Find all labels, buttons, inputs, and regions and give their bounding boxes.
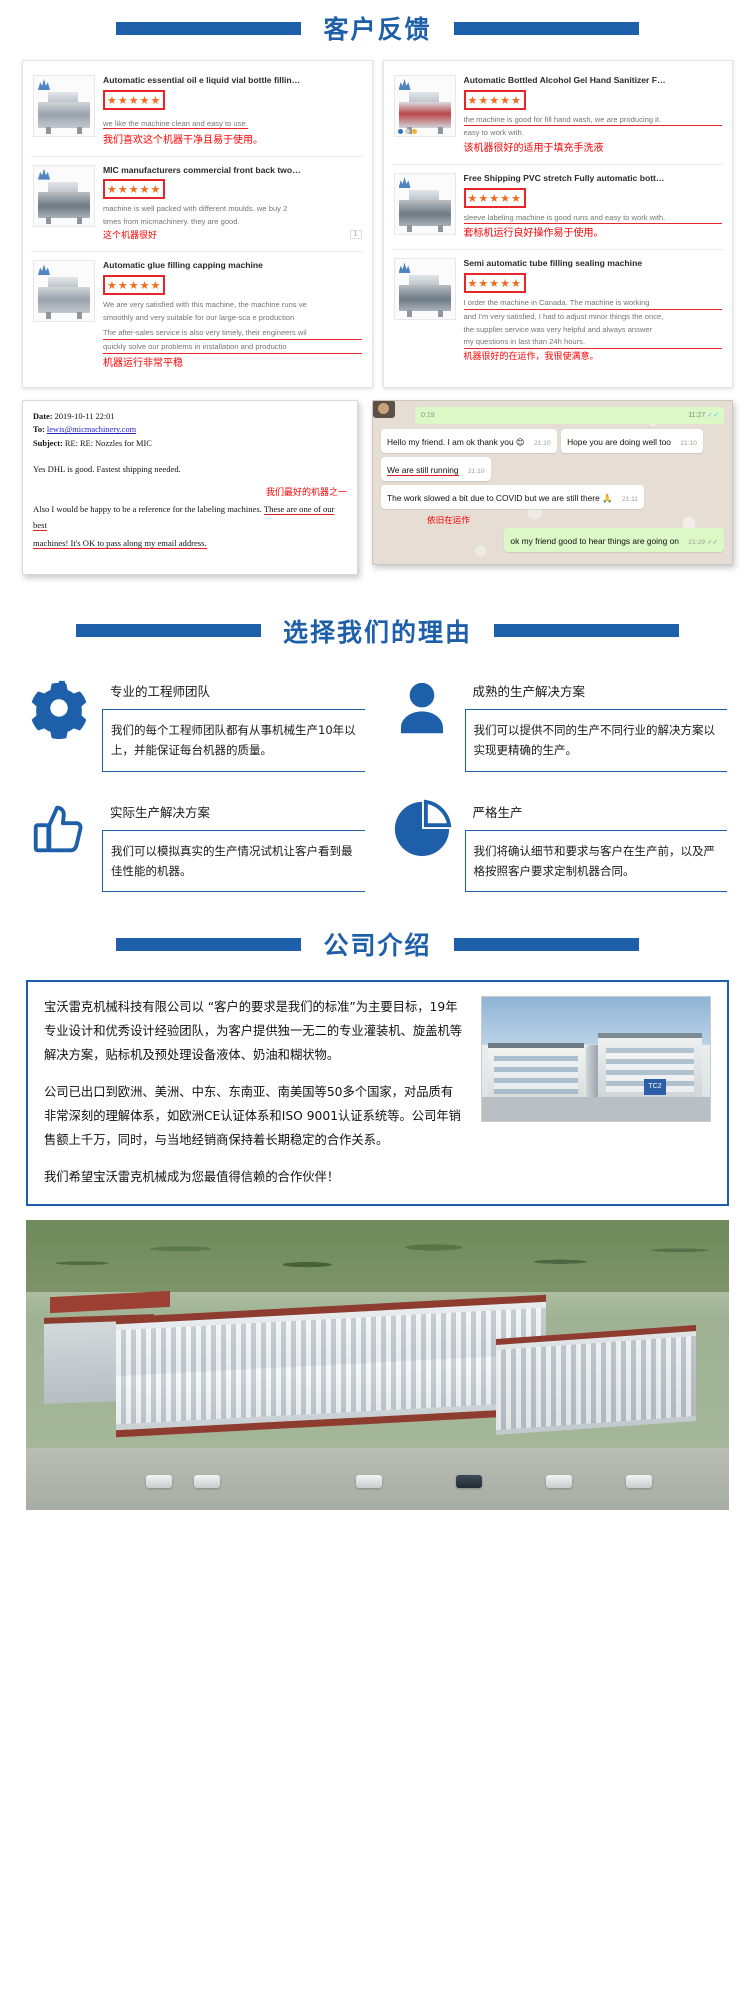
parked-car (146, 1475, 172, 1488)
review-line: quickly solve our problems in installati… (103, 341, 362, 354)
reason-item-production-solution: 成熟的生产解决方案 我们可以提供不同的生产不同行业的解决方案以实现更精确的生产。 (391, 673, 728, 772)
company-intro-text: 宝沃雷克机械科技有限公司以 “客户的要求是我们的标准”为主要目标，19年专业设计… (44, 996, 465, 1190)
red-roof-shape (50, 1291, 170, 1313)
factory-aerial-photo (26, 1220, 729, 1510)
reason-body: 我们将确认细节和要求与客户在生产前，以及严格按照客户要求定制机器合同。 (465, 831, 728, 893)
swatch-yellow[interactable] (412, 129, 417, 134)
company-paragraph-1: 宝沃雷克机械科技有限公司以 “客户的要求是我们的标准”为主要目标，19年专业设计… (44, 996, 465, 1068)
stars-glyphs: ★★★★★ (468, 278, 522, 290)
chat-text: ok my friend good to hear things are goi… (510, 536, 679, 546)
reviews-grid: Automatic essential oil e liquid vial bo… (0, 56, 755, 388)
mic-logo-icon (38, 264, 50, 275)
mic-logo-icon (399, 177, 411, 188)
outgoing-row: ok my friend good to hear things are goi… (381, 528, 724, 556)
reason-text: 成熟的生产解决方案 我们可以提供不同的生产不同行业的解决方案以实现更精确的生产。 (465, 673, 728, 772)
review-body: Automatic glue filling capping machine ★… (103, 260, 362, 371)
chat-bubble-incoming[interactable]: Hello my friend. I am ok thank you 😊 21:… (381, 429, 557, 453)
review-line: machine is well packed with different mo… (103, 203, 362, 215)
product-thumbnail (394, 75, 456, 137)
page-title-customer-feedback: 客户反馈 (323, 10, 431, 46)
swatch-gray[interactable] (405, 129, 410, 134)
review-card[interactable]: Automatic essential oil e liquid vial bo… (31, 67, 364, 157)
warehouse-roof-b (496, 1325, 696, 1435)
stars-glyphs: ★★★★★ (468, 193, 522, 205)
email-to-label: To: (33, 425, 45, 434)
read-receipt-icon: ✓✓ (707, 539, 718, 546)
proof-screenshots-row: Date: 2019-10-11 22:01 To: lewis@micmach… (0, 388, 755, 575)
review-line: the machine is good for fill hand wash, … (464, 114, 723, 127)
review-product-title[interactable]: Automatic glue filling capping machine (103, 260, 362, 272)
rating-stars: ★★★★★ (103, 275, 165, 295)
review-body: Automatic essential oil e liquid vial bo… (103, 75, 362, 148)
reviews-column-right: Automatic Bottled Alcohol Gel Hand Sanit… (383, 60, 734, 388)
review-product-title[interactable]: Automatic Bottled Alcohol Gel Hand Sanit… (464, 75, 723, 87)
color-swatch-dots[interactable] (398, 129, 417, 134)
email-screenshot: Date: 2019-10-11 22:01 To: lewis@micmach… (22, 400, 358, 575)
email-date-label: Date: (33, 412, 53, 421)
review-product-title[interactable]: Free Shipping PVC stretch Fully automati… (464, 173, 723, 185)
chat-text: Hope you are doing well too (567, 437, 671, 447)
review-line: smoothly and very suitable for our large… (103, 312, 362, 324)
review-line: sleeve labeling machine is good runs and… (464, 212, 723, 225)
email-body: Yes DHL is good. Fastest shipping needed… (33, 462, 347, 551)
chat-timestamp: 21:10 (680, 440, 697, 447)
email-date-row: Date: 2019-10-11 22:01 (33, 410, 347, 424)
reason-body: 我们可以模拟真实的生产情况试机让客户看到最佳性能的机器。 (102, 831, 365, 893)
review-text-en: We are very satisfied with this machine,… (103, 299, 362, 354)
review-line: and I'm very satisfied, I had to adjust … (464, 311, 723, 323)
parked-car (546, 1475, 572, 1488)
review-translation-cn: 该机器很好的适用于填充手洗液 (464, 141, 723, 156)
reason-heading: 成熟的生产解决方案 (465, 673, 728, 710)
product-thumbnail (394, 258, 456, 320)
page-title-reasons: 选择我们的理由 (283, 613, 472, 649)
machine-base-shape (399, 200, 451, 226)
whatsapp-screenshot: 0:19 11:27✓✓ Hello my friend. I am ok th… (372, 400, 733, 565)
chat-timestamp: 21:29✓✓ (688, 539, 718, 546)
warehouse-roof-a (116, 1295, 546, 1438)
rating-stars: ★★★★★ (464, 188, 526, 208)
heading-bar-right (494, 624, 679, 637)
review-page-number[interactable]: 1 (350, 230, 362, 239)
review-line: my questions in last than 24h hours. (464, 336, 723, 349)
review-line: the supplier service was very helpful an… (464, 324, 723, 336)
chat-text: We are still running (387, 465, 459, 476)
reason-body: 我们可以提供不同的生产不同行业的解决方案以实现更精确的生产。 (465, 710, 728, 772)
company-paragraph-3: 我们希望宝沃雷克机械成为您最值得信赖的合作伙伴！ (44, 1166, 465, 1190)
chat-timestamp: 21:10 (468, 468, 485, 475)
reason-heading: 实际生产解决方案 (102, 794, 365, 831)
chat-text: The work slowed a bit due to COVID but w… (387, 493, 612, 503)
review-body: MIC manufacturers commercial front back … (103, 165, 362, 244)
review-product-title[interactable]: MIC manufacturers commercial front back … (103, 165, 362, 177)
email-paragraph-3: machines! It's OK to pass along my email… (33, 536, 347, 551)
reason-item-engineer-team: 专业的工程师团队 我们的每个工程师团队都有从事机械生产10年以上，并能保证每台机… (28, 673, 365, 772)
chat-text: Hello my friend. I am ok thank you 😊 (387, 437, 525, 447)
review-line: We are very satisfied with this machine,… (103, 299, 362, 311)
email-to-row: To: lewis@micmachinery.com (33, 423, 347, 437)
mic-logo-icon (399, 262, 411, 273)
review-translation-cn: 机器很好的在运作，我很使满意。 (464, 351, 723, 365)
review-body: Automatic Bottled Alcohol Gel Hand Sanit… (464, 75, 723, 156)
reason-text: 实际生产解决方案 我们可以模拟真实的生产情况试机让客户看到最佳性能的机器。 (102, 794, 365, 893)
review-body: Free Shipping PVC stretch Fully automati… (464, 173, 723, 241)
email-subject-value: RE: RE: Nozzles for MIC (65, 439, 152, 448)
review-card[interactable]: Semi automatic tube filling sealing mach… (392, 250, 725, 372)
product-thumbnail (33, 75, 95, 137)
machine-base-shape (38, 192, 90, 218)
section-header-customer-feedback: 客户反馈 (0, 0, 755, 56)
email-annotation-cn: 我们最好的机器之一 (33, 486, 347, 502)
chat-bubble-incoming[interactable]: We are still running 21:10 (381, 457, 491, 481)
product-thumbnail (33, 260, 95, 322)
section-header-reasons: 选择我们的理由 (0, 603, 755, 659)
stars-glyphs: ★★★★★ (107, 184, 161, 196)
rating-stars: ★★★★★ (103, 179, 165, 199)
review-text-en: I order the machine in Canada. The machi… (464, 297, 723, 349)
pie-chart-icon (391, 798, 453, 860)
machine-base-shape (38, 287, 90, 313)
thumbs-up-icon (28, 798, 90, 860)
email-text-highlighted: machines! It's OK to pass along my email… (33, 538, 207, 549)
mic-logo-icon (38, 169, 50, 180)
email-to-link[interactable]: lewis@micmachinery.com (47, 425, 136, 434)
parked-car (194, 1475, 220, 1488)
chat-time-value: 21:29 (688, 539, 705, 546)
review-text-en: the machine is good for fill hand wash, … (464, 114, 723, 140)
email-text-plain: Also I would be happy to be a reference … (33, 504, 264, 514)
product-detail-page: 客户反馈 Automatic essential oil e liquid vi… (0, 0, 755, 1532)
chat-timestamp: 21:10 (534, 440, 551, 447)
voice-duration: 0:19 (421, 412, 435, 419)
reason-heading: 严格生产 (465, 794, 728, 831)
reason-heading: 专业的工程师团队 (102, 673, 365, 710)
ground-shape (482, 1097, 710, 1121)
heading-bar-right (454, 22, 639, 35)
review-line: we like the machine clean and easy to us… (103, 119, 248, 129)
review-translation-cn: 套标机运行良好操作易于使用。 (464, 226, 723, 241)
chat-bubble-incoming[interactable]: The work slowed a bit due to COVID but w… (381, 485, 644, 509)
tree-line-shape (26, 1220, 729, 1292)
reason-text: 严格生产 我们将确认细节和要求与客户在生产前，以及严格按照客户要求定制机器合同。 (465, 794, 728, 893)
reasons-grid: 专业的工程师团队 我们的每个工程师团队都有从事机械生产10年以上，并能保证每台机… (0, 659, 755, 899)
mic-logo-icon (399, 79, 411, 90)
review-line: I order the machine in Canada. The machi… (464, 297, 723, 310)
chat-bubble-incoming[interactable]: Hope you are doing well too 21:10 (561, 429, 703, 453)
person-icon (391, 677, 453, 739)
heading-bar-left (116, 938, 301, 951)
review-text-en: machine is well packed with different mo… (103, 203, 362, 228)
reason-item-strict-production: 严格生产 我们将确认细节和要求与客户在生产前，以及严格按照客户要求定制机器合同。 (391, 794, 728, 893)
product-thumbnail (394, 173, 456, 235)
page-title-company: 公司介绍 (323, 926, 431, 962)
read-receipt-icon: ✓✓ (707, 412, 719, 419)
email-paragraph-2: Also I would be happy to be a reference … (33, 502, 347, 532)
review-translation-cn: 机器运行非常平稳 (103, 356, 362, 371)
reviews-column-left: Automatic essential oil e liquid vial bo… (22, 60, 373, 388)
building-sign: TC2 (644, 1079, 666, 1095)
machine-base-shape (38, 102, 90, 128)
voice-timestamp: 11:27✓✓ (688, 411, 719, 419)
review-line: easy to work with. (464, 127, 723, 139)
contact-avatar (373, 400, 395, 418)
parked-car (456, 1475, 482, 1488)
voice-time-value: 11:27 (688, 412, 705, 419)
voice-message-bubble[interactable]: 0:19 11:27✓✓ (415, 407, 724, 424)
rating-stars: ★★★★★ (103, 90, 165, 110)
machine-base-shape (399, 102, 451, 128)
review-body: Semi automatic tube filling sealing mach… (464, 258, 723, 364)
building-left-shape (488, 1043, 584, 1099)
review-product-title[interactable]: Automatic essential oil e liquid vial bo… (103, 75, 362, 87)
review-text-en: sleeve labeling machine is good runs and… (464, 212, 723, 225)
review-translation-cn: 我们喜欢这个机器干净且易于使用。 (103, 133, 362, 148)
company-paragraph-2: 公司已出口到欧洲、美洲、中东、东南亚、南美国等50多个国家，对品质有非常深刻的理… (44, 1081, 465, 1153)
email-date-value: 2019-10-11 22:01 (55, 412, 115, 421)
heading-bar-left (76, 624, 261, 637)
reason-item-real-production: 实际生产解决方案 我们可以模拟真实的生产情况试机让客户看到最佳性能的机器。 (28, 794, 365, 893)
review-line: The after-sales service is also very tim… (103, 327, 362, 340)
machine-base-shape (399, 285, 451, 311)
stars-glyphs: ★★★★★ (468, 95, 522, 107)
review-card[interactable]: MIC manufacturers commercial front back … (31, 157, 364, 253)
review-card[interactable]: Automatic Bottled Alcohol Gel Hand Sanit… (392, 67, 725, 165)
review-card[interactable]: Automatic glue filling capping machine ★… (31, 252, 364, 379)
heading-bar-left (116, 22, 301, 35)
email-subject-row: Subject: RE: RE: Nozzles for MIC (33, 437, 347, 451)
parked-car (356, 1475, 382, 1488)
email-header: Date: 2019-10-11 22:01 To: lewis@micmach… (33, 410, 347, 451)
review-translation-cn: 这个机器很好 (103, 230, 362, 244)
gear-icon (28, 677, 90, 739)
chat-timestamp: 21:11 (622, 496, 638, 503)
reason-body: 我们的每个工程师团队都有从事机械生产10年以上，并能保证每台机器的质量。 (102, 710, 365, 772)
chat-annotation-cn: 依旧在运作 (427, 514, 724, 526)
review-line: times from micmachinery. they are good. (103, 216, 362, 228)
email-subject-label: Subject: (33, 439, 63, 448)
product-thumbnail (33, 165, 95, 227)
company-intro-section: 宝沃雷克机械科技有限公司以 “客户的要求是我们的标准”为主要目标，19年专业设计… (0, 972, 755, 1206)
review-card[interactable]: Free Shipping PVC stretch Fully automati… (392, 165, 725, 250)
swatch-blue[interactable] (398, 129, 403, 134)
mic-logo-icon (38, 79, 50, 90)
stars-glyphs: ★★★★★ (107, 95, 161, 107)
stars-glyphs: ★★★★★ (107, 280, 161, 292)
review-product-title[interactable]: Semi automatic tube filling sealing mach… (464, 258, 723, 270)
review-text-en: we like the machine clean and easy to us… (103, 113, 362, 131)
section-header-company: 公司介绍 (0, 916, 755, 972)
email-paragraph-1: Yes DHL is good. Fastest shipping needed… (33, 462, 347, 477)
reason-text: 专业的工程师团队 我们的每个工程师团队都有从事机械生产10年以上，并能保证每台机… (102, 673, 365, 772)
parked-car (626, 1475, 652, 1488)
company-intro-box: 宝沃雷克机械科技有限公司以 “客户的要求是我们的标准”为主要目标，19年专业设计… (26, 980, 729, 1206)
heading-bar-right (454, 938, 639, 951)
rating-stars: ★★★★★ (464, 273, 526, 293)
factory-building-photo: TC2 (481, 996, 711, 1122)
chat-bubble-outgoing[interactable]: ok my friend good to hear things are goi… (504, 528, 724, 552)
rating-stars: ★★★★★ (464, 90, 526, 110)
